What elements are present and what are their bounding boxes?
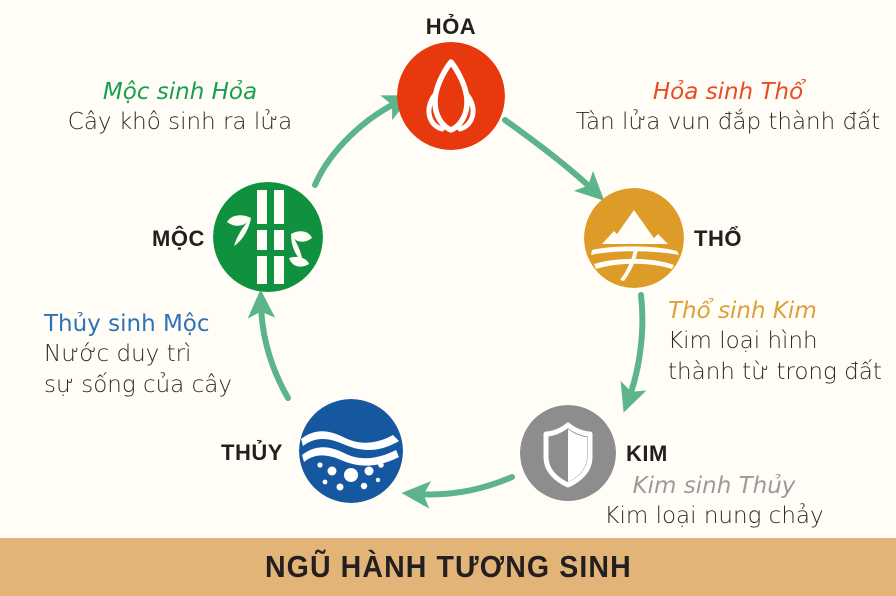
arrow-moc-to-hoa	[315, 102, 398, 185]
relation-label-thuy-sinh-moc: Thủy sinh Mộc	[44, 310, 232, 339]
relation-desc-tho-sinh-kim-line2: thành từ trong đất	[668, 357, 882, 387]
relation-desc-tho-sinh-kim-line1: Kim loại hình	[668, 326, 882, 356]
element-label-moc: MỘC	[152, 226, 205, 252]
relation-label-kim-sinh-thuy: Kim sinh Thủy	[604, 472, 823, 501]
relation-desc-kim-sinh-thuy: Kim loại nung chảy	[604, 501, 823, 531]
mountain-field-icon	[584, 188, 684, 288]
caption-hoa-sinh-tho: Hỏa sinh Thổ Tàn lửa vun đắp thành đất	[576, 78, 880, 138]
arrow-thuy-to-moc	[261, 305, 288, 398]
arrow-tho-to-kim	[629, 295, 642, 398]
relation-desc-thuy-sinh-moc-line2: sự sống của cây	[44, 370, 232, 400]
relation-label-tho-sinh-kim: Thổ sinh Kim	[668, 297, 882, 326]
banner-title-text: NGŨ HÀNH TƯƠNG SINH	[265, 549, 632, 585]
element-label-tho: THỔ	[694, 226, 742, 252]
element-label-hoa: HỎA	[426, 14, 476, 40]
caption-thuy-sinh-moc: Thủy sinh Mộc Nước duy trì sự sống của c…	[44, 310, 232, 400]
arrow-kim-to-thuy	[417, 477, 512, 494]
relation-desc-moc-sinh-hoa: Cây khô sinh ra lửa	[68, 107, 292, 137]
caption-kim-sinh-thuy: Kim sinh Thủy Kim loại nung chảy	[604, 472, 823, 532]
caption-moc-sinh-hoa: Mộc sinh Hỏa Cây khô sinh ra lửa	[68, 78, 292, 138]
element-label-kim: KIM	[626, 441, 668, 467]
bamboo-icon	[213, 182, 323, 292]
relation-label-moc-sinh-hoa: Mộc sinh Hỏa	[68, 78, 292, 107]
relation-label-hoa-sinh-tho: Hỏa sinh Thổ	[576, 78, 880, 107]
relation-desc-hoa-sinh-tho: Tàn lửa vun đắp thành đất	[576, 107, 880, 137]
water-waves-icon	[299, 399, 403, 503]
flame-icon	[397, 42, 505, 150]
relation-desc-thuy-sinh-moc-line1: Nước duy trì	[44, 339, 232, 369]
element-label-thuy: THỦY	[221, 440, 283, 466]
title-banner: NGŨ HÀNH TƯƠNG SINH	[0, 538, 896, 596]
caption-tho-sinh-kim: Thổ sinh Kim Kim loại hình thành từ tron…	[668, 297, 882, 387]
ngu-hanh-tuong-sinh-diagram: HỎA THỔ KIM	[0, 0, 896, 596]
shield-icon	[520, 405, 616, 501]
